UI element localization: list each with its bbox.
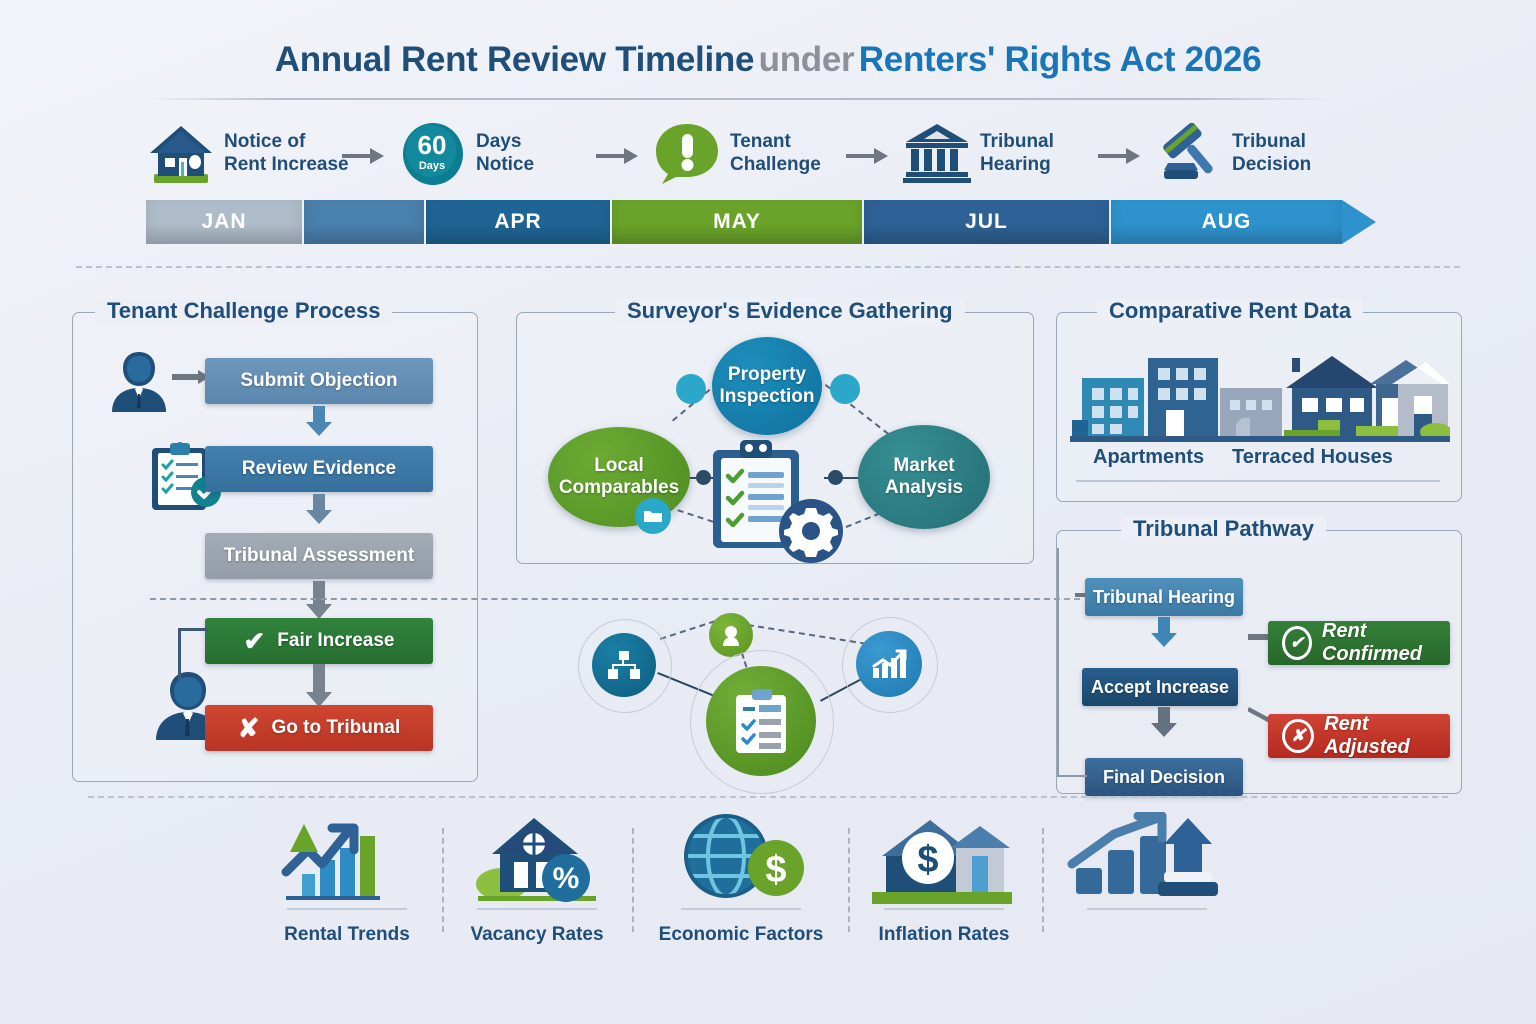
timeline-step-label: Tribunal Hearing	[980, 130, 1054, 176]
flow-connector-elbow-down	[178, 628, 181, 680]
svg-text:$: $	[765, 849, 786, 891]
title-divider	[146, 98, 1328, 100]
stat-inflation-rates[interactable]: $ Inflation Rates	[864, 812, 1024, 946]
stats-separator	[442, 828, 444, 932]
house-percent-icon: %	[462, 812, 612, 904]
timeline-steps: Notice of Rent Increase 60 Days Days Not…	[146, 112, 1376, 194]
flow-box-submit-objection[interactable]: Submit Objection	[205, 358, 433, 404]
flow-box-tribunal-hearing[interactable]: Tribunal Hearing	[1085, 578, 1243, 616]
timeline-month-aug[interactable]: AUG	[1111, 200, 1342, 244]
flow-arrow-3-icon	[306, 581, 332, 619]
flow-box-review-evidence[interactable]: Review Evidence	[205, 446, 433, 492]
stats-row: Rental Trends % Vacancy Rates	[272, 812, 1152, 962]
title-main: Annual Rent Review Timeline	[275, 40, 754, 79]
title-accent: Renters' Rights Act 2026	[859, 40, 1261, 79]
stat-label: Rental Trends	[272, 924, 422, 946]
outcome-label: Rent Confirmed	[1322, 620, 1450, 666]
flow-box-label: Review Evidence	[242, 458, 396, 480]
exclamation-speech-bubble-icon	[652, 120, 722, 186]
bar-chart-growth-icon[interactable]	[856, 631, 922, 697]
gear-icon	[778, 498, 844, 569]
stats-separator	[1042, 828, 1044, 932]
timeline-arrow-1-icon	[342, 150, 386, 162]
flow-arrow-2-icon	[306, 494, 332, 524]
timeline-step-label: Notice of Rent Increase	[224, 130, 349, 176]
outcome-rent-confirmed[interactable]: ✔ Rent Confirmed	[1268, 621, 1450, 665]
panel-title: Tribunal Pathway	[1121, 516, 1326, 542]
stat-divider	[681, 908, 801, 910]
timeline-step-challenge[interactable]: Tenant Challenge	[652, 112, 821, 194]
stat-label: Economic Factors	[648, 924, 834, 946]
svg-text:$: $	[917, 839, 938, 881]
category-label-apartments: Apartments	[1093, 446, 1204, 469]
timeline: Notice of Rent Increase 60 Days Days Not…	[146, 112, 1376, 252]
person-icon	[108, 348, 170, 417]
stat-vacancy-rates[interactable]: % Vacancy Rates	[462, 812, 612, 946]
tribunal-arrow-2-icon	[1151, 707, 1177, 737]
node-property-inspection[interactable]: Property Inspection	[712, 337, 822, 435]
check-circle-icon: ✔	[1282, 626, 1312, 660]
outcome-rent-adjusted[interactable]: ✘ Rent Adjusted	[1268, 714, 1450, 758]
node-market-analysis[interactable]: Market Analysis	[858, 425, 990, 529]
timeline-month-jul[interactable]: JUL	[864, 200, 1109, 244]
divider-bottom	[88, 796, 1448, 798]
flow-arrow-4-icon	[306, 664, 332, 708]
cross-link-dashed	[150, 598, 1080, 600]
flow-box-label: Fair Increase	[277, 630, 394, 652]
timeline-month-may[interactable]: MAY	[612, 200, 862, 244]
flow-box-fair-increase[interactable]: ✔ Fair Increase	[205, 618, 433, 664]
flow-box-label: Submit Objection	[240, 370, 397, 392]
timeline-arrow-2-icon	[596, 150, 640, 162]
panel-title: Surveyor's Evidence Gathering	[615, 298, 965, 324]
globe-dollar-icon: $	[648, 812, 834, 904]
timeline-arrow-4-icon	[1098, 150, 1142, 162]
flow-box-tribunal-assessment[interactable]: Tribunal Assessment	[205, 533, 433, 579]
flow-box-label: Tribunal Hearing	[1093, 587, 1235, 608]
timeline-month-gap[interactable]	[304, 200, 424, 244]
timeline-step-60days[interactable]: 60 Days Days Notice	[398, 112, 534, 194]
timeline-step-label: Tenant Challenge	[730, 130, 821, 176]
timeline-month-apr[interactable]: APR	[426, 200, 610, 244]
flow-arrow-1-icon	[306, 406, 332, 436]
tribunal-arrow-1-icon	[1151, 617, 1177, 647]
flow-box-label: Accept Increase	[1091, 677, 1229, 698]
stats-separator	[848, 828, 850, 932]
accent-dot-icon	[830, 374, 860, 404]
stat-label: Inflation Rates	[864, 924, 1024, 946]
timeline-arrow-tip-icon	[1342, 200, 1376, 244]
flow-box-accept-increase[interactable]: Accept Increase	[1082, 668, 1238, 706]
tribunal-loop-line	[1057, 548, 1059, 776]
house-dollar-icon: $	[864, 812, 1024, 904]
stat-label: Vacancy Rates	[462, 924, 612, 946]
x-circle-icon: ✘	[1282, 719, 1314, 753]
house-icon	[146, 120, 216, 186]
outcome-label: Rent Adjusted	[1324, 713, 1450, 759]
svg-text:Days: Days	[419, 160, 445, 172]
page-title: Annual Rent Review Timeline under Renter…	[0, 40, 1536, 80]
buildings-illustration	[1070, 340, 1450, 450]
stat-divider	[884, 908, 1004, 910]
tribunal-loop-line-bottom	[1057, 775, 1087, 777]
stat-divider	[1087, 908, 1207, 910]
flow-box-label: Final Decision	[1103, 767, 1225, 788]
flow-box-label: Tribunal Assessment	[224, 545, 414, 567]
timeline-step-notice[interactable]: Notice of Rent Increase	[146, 112, 349, 194]
timeline-step-label: Tribunal Decision	[1232, 130, 1311, 176]
stat-rental-trends[interactable]: Rental Trends	[272, 812, 422, 946]
growth-arrow-gavel-icon	[1062, 812, 1232, 904]
bar-chart-arrow-icon	[272, 812, 422, 904]
panel-title: Comparative Rent Data	[1097, 298, 1363, 324]
divider-top	[76, 266, 1460, 268]
svg-text:%: %	[553, 862, 580, 895]
org-chart-icon[interactable]	[592, 633, 656, 697]
sixty-days-badge-icon: 60 Days	[398, 120, 468, 186]
title-connector: under	[759, 40, 855, 79]
infographic-canvas: Annual Rent Review Timeline under Renter…	[0, 0, 1536, 1024]
gavel-icon	[1154, 120, 1224, 186]
flow-box-label: Go to Tribunal	[272, 717, 401, 739]
person-dot-icon[interactable]	[709, 613, 753, 657]
stat-growth-gavel[interactable]	[1062, 812, 1232, 924]
flow-box-final-decision[interactable]: Final Decision	[1085, 758, 1243, 796]
timeline-step-hearing[interactable]: Tribunal Hearing	[902, 112, 1054, 194]
svg-text:60: 60	[418, 130, 447, 160]
timeline-month-jan[interactable]: JAN	[146, 200, 302, 244]
panel-title: Tenant Challenge Process	[95, 298, 392, 324]
flow-connector-elbow	[178, 628, 208, 631]
courthouse-icon	[902, 120, 972, 186]
timeline-month-bar: JAN APR MAY JUL AUG	[146, 200, 1376, 244]
timeline-step-label: Days Notice	[476, 130, 534, 176]
check-mark-icon: ✔	[243, 628, 265, 654]
accent-dot-icon	[676, 374, 706, 404]
category-underline	[1076, 480, 1224, 482]
stat-divider	[287, 908, 407, 910]
category-label-terraced-houses: Terraced Houses	[1232, 446, 1393, 469]
stat-economic-factors[interactable]: $ Economic Factors	[648, 812, 834, 946]
stat-divider	[477, 908, 597, 910]
flow-box-go-to-tribunal[interactable]: ✘ Go to Tribunal	[205, 705, 433, 751]
category-underline	[1218, 480, 1440, 482]
timeline-arrow-3-icon	[846, 150, 890, 162]
folder-badge-icon	[635, 498, 671, 534]
link-dot-icon	[828, 470, 843, 485]
stats-separator	[632, 828, 634, 932]
timeline-step-decision[interactable]: Tribunal Decision	[1154, 112, 1311, 194]
clipboard-checklist-icon[interactable]	[706, 666, 816, 776]
x-mark-icon: ✘	[238, 715, 260, 741]
